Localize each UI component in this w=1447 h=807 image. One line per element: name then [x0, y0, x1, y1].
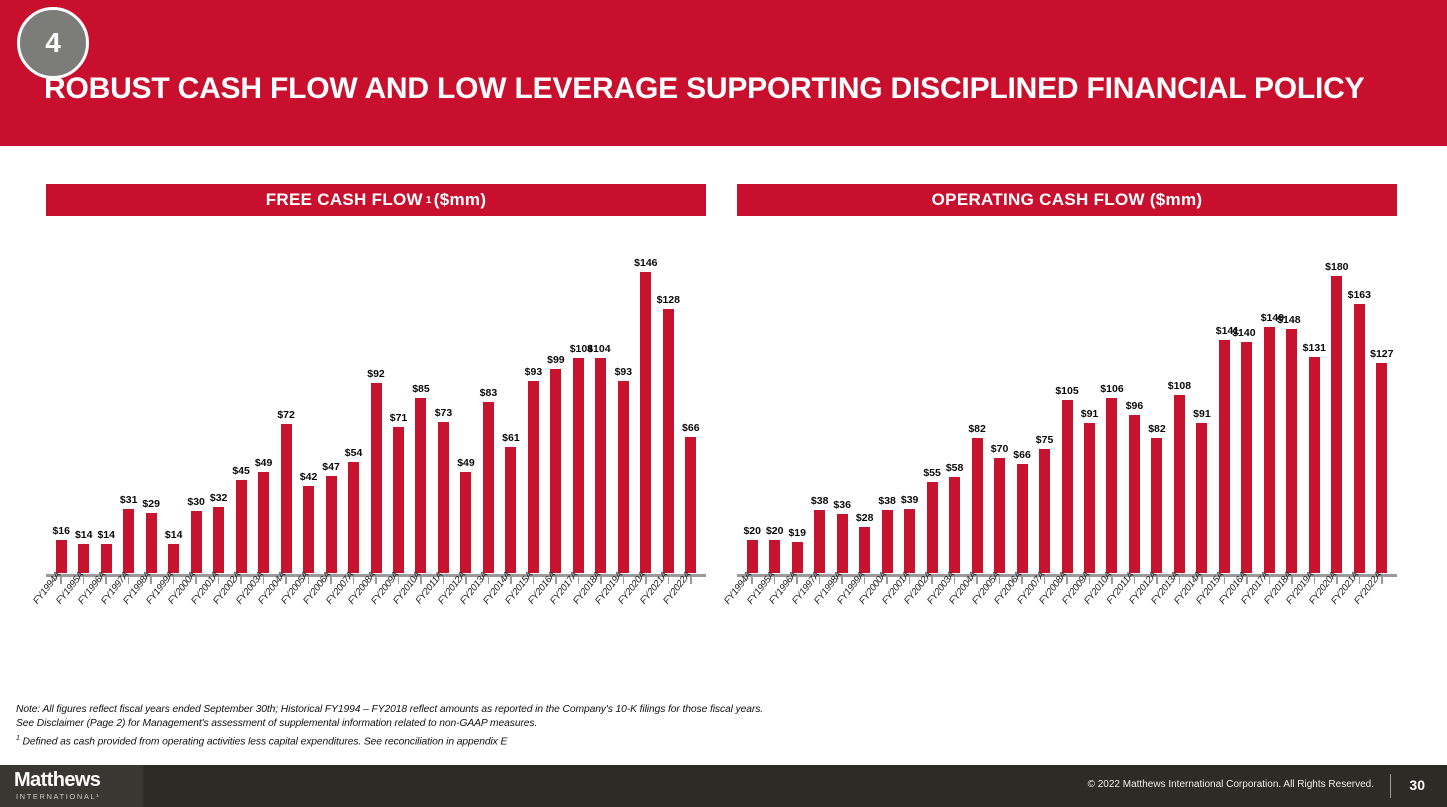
- footnote-line-3-text: Defined as cash provided from operating …: [20, 736, 507, 747]
- bar-slot: $66: [1011, 233, 1033, 573]
- bar-slot: $32: [207, 233, 229, 573]
- chart-operating-cash-flow: $20$20$19$38$36$28$38$39$55$58$82$70$66$…: [737, 226, 1397, 706]
- bar-value-label: $91: [1193, 409, 1211, 420]
- bar-value-label: $72: [277, 410, 295, 421]
- bar-slot: $106: [1101, 233, 1123, 573]
- bar: [663, 309, 674, 573]
- bar: [685, 437, 696, 573]
- footer-logo-container: Matthews INTERNATIONAL¹: [0, 765, 143, 807]
- bar: [393, 427, 404, 573]
- bar: [1331, 276, 1342, 573]
- bar-slot: $49: [455, 233, 477, 573]
- panel-banner-free-cash-flow: FREE CASH FLOW 1 ($mm): [46, 184, 706, 216]
- bar: [78, 544, 89, 573]
- bar: [1017, 464, 1028, 573]
- bar-slot: $49: [252, 233, 274, 573]
- bar-slot: $104: [567, 233, 589, 573]
- bar-value-label: $131: [1303, 343, 1326, 354]
- copyright-text: © 2022 Matthews International Corporatio…: [1088, 779, 1374, 790]
- bar: [303, 486, 314, 573]
- bar: [949, 477, 960, 573]
- panel-operating-cash-flow: OPERATING CASH FLOW ($mm) $20$20$19$38$3…: [723, 146, 1447, 706]
- bar: [550, 369, 561, 573]
- banner-label: OPERATING CASH FLOW ($mm): [932, 190, 1203, 210]
- bar: [146, 513, 157, 573]
- bar-slot: $75: [1033, 233, 1055, 573]
- bar-value-label: $14: [75, 530, 93, 541]
- bar-slot: $58: [943, 233, 965, 573]
- bar: [1129, 415, 1140, 573]
- bar-slot: $92: [365, 233, 387, 573]
- bar: [1309, 357, 1320, 573]
- slide-footer: Matthews INTERNATIONAL¹ © 2022 Matthews …: [0, 765, 1447, 807]
- bar: [460, 472, 471, 573]
- bar: [438, 422, 449, 573]
- bar-slot: $39: [898, 233, 920, 573]
- bar-slot: $85: [410, 233, 432, 573]
- banner-footnote-marker: 1: [426, 195, 432, 206]
- bar: [1376, 363, 1387, 573]
- bar-slot: $28: [853, 233, 875, 573]
- bar-slot: $93: [522, 233, 544, 573]
- footnote-line-1: Note: All figures reflect fiscal years e…: [16, 703, 966, 717]
- bar-slot: $61: [500, 233, 522, 573]
- bar-slot: $16: [50, 233, 72, 573]
- bar-slot: $163: [1348, 233, 1370, 573]
- bar-value-label: $49: [255, 458, 273, 469]
- bar-value-label: $104: [587, 344, 610, 355]
- bar: [191, 511, 202, 573]
- slide-header: 4 ROBUST CASH FLOW AND LOW LEVERAGE SUPP…: [0, 0, 1447, 146]
- bar: [1354, 304, 1365, 573]
- bar-slot: $42: [297, 233, 319, 573]
- bar-slot: $14: [162, 233, 184, 573]
- bar-slot: $31: [117, 233, 139, 573]
- bar-slot: $108: [1168, 233, 1190, 573]
- bar-slot: $83: [477, 233, 499, 573]
- bar-slot: $38: [808, 233, 830, 573]
- footnote-line-3: 1 Defined as cash provided from operatin…: [16, 732, 966, 750]
- bar-slot: $149: [1258, 233, 1280, 573]
- bar-value-label: $39: [901, 495, 919, 506]
- bar: [1151, 438, 1162, 573]
- category-slot: FY2022A: [1371, 584, 1393, 706]
- bar-value-label: $19: [788, 528, 806, 539]
- x-axis-category-labels: FY1994AFY1995AFY1996AFY1997AFY1998AFY199…: [46, 584, 706, 706]
- bar-value-label: $73: [435, 408, 453, 419]
- bar-value-label: $140: [1232, 328, 1255, 339]
- bar-value-label: $70: [991, 444, 1009, 455]
- page-title: ROBUST CASH FLOW AND LOW LEVERAGE SUPPOR…: [44, 72, 1424, 106]
- bar-slot: $96: [1123, 233, 1145, 573]
- bar-value-label: $49: [457, 458, 475, 469]
- bar: [483, 402, 494, 573]
- bar: [1286, 329, 1297, 573]
- bar-value-label: $66: [1013, 450, 1031, 461]
- bar-value-label: $32: [210, 493, 228, 504]
- bar-value-label: $66: [682, 423, 700, 434]
- bar-slot: $36: [831, 233, 853, 573]
- bar: [258, 472, 269, 573]
- matthews-logo: Matthews: [14, 770, 100, 791]
- section-number-badge: 4: [17, 7, 89, 79]
- bar-slot: $29: [140, 233, 162, 573]
- bar-slot: $14: [95, 233, 117, 573]
- panel-banner-operating-cash-flow: OPERATING CASH FLOW ($mm): [737, 184, 1397, 216]
- bar-value-label: $14: [97, 530, 115, 541]
- bar-value-label: $36: [833, 500, 851, 511]
- bar: [1174, 395, 1185, 573]
- bar-value-label: $93: [525, 367, 543, 378]
- bar: [792, 542, 803, 573]
- bar-value-label: $127: [1370, 349, 1393, 360]
- bar-value-label: $108: [1168, 381, 1191, 392]
- bar: [348, 462, 359, 573]
- bar-value-label: $45: [232, 466, 250, 477]
- bar-slot: $70: [988, 233, 1010, 573]
- bar-value-label: $75: [1036, 435, 1054, 446]
- footer-divider: [1390, 774, 1391, 798]
- bar-slot: $146: [635, 233, 657, 573]
- bar-series-operating-cash-flow: $20$20$19$38$36$28$38$39$55$58$82$70$66$…: [737, 233, 1397, 573]
- bar: [747, 540, 758, 573]
- bar-slot: $19: [786, 233, 808, 573]
- category-slot: FY2022A: [680, 584, 702, 706]
- matthews-logo-subtitle: INTERNATIONAL¹: [16, 792, 100, 801]
- bar-value-label: $93: [615, 367, 633, 378]
- bar: [882, 510, 893, 573]
- bar-value-label: $180: [1325, 262, 1348, 273]
- panel-free-cash-flow: FREE CASH FLOW 1 ($mm) $16$14$14$31$29$1…: [0, 146, 723, 706]
- bar-slot: $131: [1303, 233, 1325, 573]
- bar-value-label: $71: [390, 413, 408, 424]
- bar-slot: $71: [387, 233, 409, 573]
- bar: [505, 447, 516, 573]
- bar-slot: $148: [1281, 233, 1303, 573]
- bar: [123, 509, 134, 573]
- bar: [371, 383, 382, 573]
- bar-value-label: $146: [634, 258, 657, 269]
- bar: [1106, 398, 1117, 573]
- bar-slot: $38: [876, 233, 898, 573]
- bar-value-label: $20: [766, 526, 784, 537]
- bar-value-label: $58: [946, 463, 964, 474]
- bar-value-label: $16: [52, 526, 70, 537]
- bar: [56, 540, 67, 573]
- bar-value-label: $148: [1277, 315, 1300, 326]
- bar-value-label: $42: [300, 472, 318, 483]
- bar: [1084, 423, 1095, 573]
- page-number: 30: [1409, 777, 1425, 793]
- bar-value-label: $54: [345, 448, 363, 459]
- bar: [994, 458, 1005, 573]
- bar-value-label: $38: [811, 496, 829, 507]
- bar-slot: $30: [185, 233, 207, 573]
- bar-value-label: $83: [480, 388, 498, 399]
- bar: [1196, 423, 1207, 573]
- bar-value-label: $47: [322, 462, 340, 473]
- bar: [1062, 400, 1073, 573]
- bar: [101, 544, 112, 573]
- bar-value-label: $29: [142, 499, 160, 510]
- banner-label: FREE CASH FLOW: [266, 190, 423, 210]
- x-axis-category-labels: FY1994AFY1995AFY1996AFY1997AFY1998AFY199…: [737, 584, 1397, 706]
- bar: [415, 398, 426, 573]
- bar: [1039, 449, 1050, 573]
- bar-value-label: $128: [657, 295, 680, 306]
- bar-value-label: $92: [367, 369, 385, 380]
- footnote-line-2: See Disclaimer (Page 2) for Management's…: [16, 717, 966, 731]
- bar-slot: $47: [320, 233, 342, 573]
- bar-slot: $20: [741, 233, 763, 573]
- bar: [595, 358, 606, 573]
- bar: [814, 510, 825, 573]
- bar-value-label: $31: [120, 495, 138, 506]
- footnotes: Note: All figures reflect fiscal years e…: [16, 703, 966, 750]
- bar-slot: $20: [763, 233, 785, 573]
- bar-value-label: $163: [1348, 290, 1371, 301]
- bar-slot: $141: [1213, 233, 1235, 573]
- bar-slot: $66: [680, 233, 702, 573]
- bar-value-label: $91: [1081, 409, 1099, 420]
- bar-value-label: $105: [1055, 386, 1078, 397]
- section-number: 4: [45, 27, 61, 59]
- bar: [640, 272, 651, 573]
- bar: [326, 476, 337, 573]
- bar: [927, 482, 938, 573]
- bar-slot: $180: [1326, 233, 1348, 573]
- bar-value-label: $38: [878, 496, 896, 507]
- bar-slot: $93: [612, 233, 634, 573]
- bar-slot: $14: [72, 233, 94, 573]
- bar-slot: $128: [657, 233, 679, 573]
- bar-series-free-cash-flow: $16$14$14$31$29$14$30$32$45$49$72$42$47$…: [46, 233, 706, 573]
- bar-value-label: $55: [923, 468, 941, 479]
- bar: [168, 544, 179, 573]
- bar-slot: $45: [230, 233, 252, 573]
- bar-slot: $73: [432, 233, 454, 573]
- bar-slot: $72: [275, 233, 297, 573]
- bar: [769, 540, 780, 573]
- bar: [904, 509, 915, 573]
- bar: [213, 507, 224, 573]
- bar-value-label: $14: [165, 530, 183, 541]
- bar-value-label: $30: [187, 497, 205, 508]
- bar: [837, 514, 848, 573]
- bar: [1264, 327, 1275, 573]
- bar: [859, 527, 870, 573]
- bar: [281, 424, 292, 573]
- bar-value-label: $28: [856, 513, 874, 524]
- bar: [1241, 342, 1252, 573]
- bar-value-label: $106: [1100, 384, 1123, 395]
- bar-slot: $105: [1056, 233, 1078, 573]
- bar: [1219, 340, 1230, 573]
- bar-slot: $140: [1236, 233, 1258, 573]
- bar: [972, 438, 983, 573]
- bar-value-label: $96: [1126, 401, 1144, 412]
- bar: [236, 480, 247, 573]
- bar-slot: $104: [590, 233, 612, 573]
- bar: [573, 358, 584, 573]
- bar-slot: $82: [966, 233, 988, 573]
- bar-value-label: $20: [743, 526, 761, 537]
- bar-slot: $127: [1371, 233, 1393, 573]
- bar: [528, 381, 539, 573]
- banner-units: ($mm): [434, 190, 487, 210]
- bar-slot: $99: [545, 233, 567, 573]
- bar: [618, 381, 629, 573]
- bar-slot: $91: [1078, 233, 1100, 573]
- chart-free-cash-flow: $16$14$14$31$29$14$30$32$45$49$72$42$47$…: [46, 226, 706, 706]
- bar-slot: $82: [1146, 233, 1168, 573]
- bar-value-label: $99: [547, 355, 565, 366]
- bar-value-label: $85: [412, 384, 430, 395]
- bar-slot: $55: [921, 233, 943, 573]
- bar-slot: $54: [342, 233, 364, 573]
- bar-value-label: $82: [968, 424, 986, 435]
- bar-value-label: $82: [1148, 424, 1166, 435]
- bar-value-label: $61: [502, 433, 520, 444]
- bar-slot: $91: [1191, 233, 1213, 573]
